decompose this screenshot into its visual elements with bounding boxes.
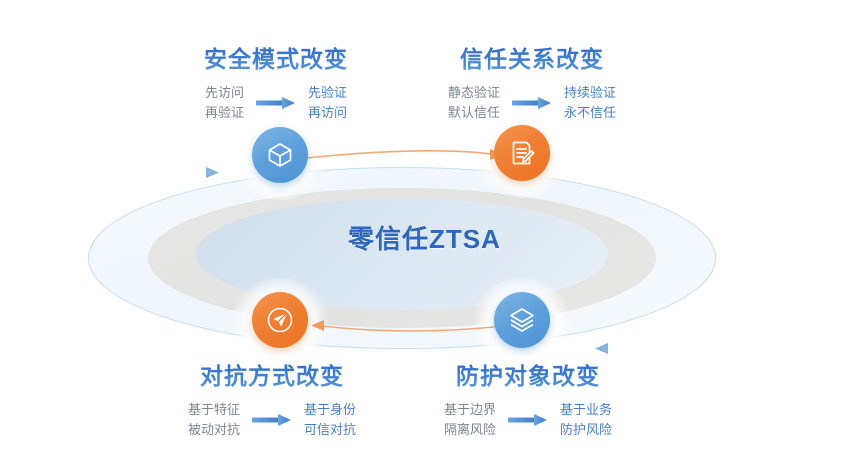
quadrant-before-text: 静态验证 默认信任 bbox=[448, 83, 500, 123]
quadrant-top-left: 安全模式改变 先访问 再验证 先验证 再访问 bbox=[146, 40, 406, 123]
zero-trust-diagram: 零信任ZTSA bbox=[0, 0, 849, 476]
layers-icon bbox=[507, 305, 537, 335]
after-line-2: 可信对抗 bbox=[304, 420, 356, 440]
quadrant-comparison: 先访问 再验证 先验证 再访问 bbox=[146, 83, 406, 123]
quadrant-title: 信任关系改变 bbox=[402, 40, 662, 74]
quadrant-comparison: 基于特征 被动对抗 基于身份 可信对抗 bbox=[142, 400, 402, 440]
before-line-2: 被动对抗 bbox=[188, 420, 240, 440]
transition-arrow-icon bbox=[508, 413, 548, 427]
after-line-2: 防护风险 bbox=[560, 420, 612, 440]
quadrant-before-text: 先访问 再验证 bbox=[205, 83, 244, 123]
quadrant-top-right: 信任关系改变 静态验证 默认信任 持续验证 永不信任 bbox=[402, 40, 662, 123]
node-top-left[interactable] bbox=[252, 127, 308, 183]
outer-orbit-ellipse bbox=[88, 167, 716, 349]
quadrant-comparison: 静态验证 默认信任 持续验证 永不信任 bbox=[402, 83, 662, 123]
quadrant-comparison: 基于边界 隔离风险 基于业务 防护风险 bbox=[398, 400, 658, 440]
quadrant-title: 安全模式改变 bbox=[146, 40, 406, 74]
after-line-2: 再访问 bbox=[308, 103, 347, 123]
before-line-2: 默认信任 bbox=[448, 103, 500, 123]
node-bottom-left[interactable] bbox=[252, 292, 308, 348]
send-icon bbox=[264, 304, 296, 336]
cube-icon bbox=[266, 141, 294, 169]
transition-arrow-icon bbox=[512, 96, 552, 110]
quadrant-after-text: 先验证 再访问 bbox=[308, 83, 347, 123]
transition-arrow-icon bbox=[256, 96, 296, 110]
before-line-1: 静态验证 bbox=[448, 83, 500, 103]
node-bottom-right[interactable] bbox=[494, 292, 550, 348]
before-line-1: 先访问 bbox=[205, 83, 244, 103]
after-line-1: 持续验证 bbox=[564, 83, 616, 103]
quadrant-before-text: 基于特征 被动对抗 bbox=[188, 400, 240, 440]
quadrant-title: 对抗方式改变 bbox=[142, 357, 402, 391]
quadrant-bottom-right: 防护对象改变 基于边界 隔离风险 基于业务 防护风险 bbox=[398, 357, 658, 440]
document-edit-icon bbox=[508, 139, 536, 167]
before-line-2: 隔离风险 bbox=[444, 420, 496, 440]
quadrant-after-text: 持续验证 永不信任 bbox=[564, 83, 616, 123]
node-top-right[interactable] bbox=[494, 125, 550, 181]
quadrant-bottom-left: 对抗方式改变 基于特征 被动对抗 基于身份 可信对抗 bbox=[142, 357, 402, 440]
quadrant-after-text: 基于身份 可信对抗 bbox=[304, 400, 356, 440]
before-line-1: 基于特征 bbox=[188, 400, 240, 420]
orbit-arrowhead-top-left bbox=[206, 167, 219, 178]
after-line-1: 基于身份 bbox=[304, 400, 356, 420]
after-line-2: 永不信任 bbox=[564, 103, 616, 123]
quadrant-before-text: 基于边界 隔离风险 bbox=[444, 400, 496, 440]
after-line-1: 先验证 bbox=[308, 83, 347, 103]
before-line-2: 再验证 bbox=[205, 103, 244, 123]
quadrant-title: 防护对象改变 bbox=[398, 357, 658, 391]
after-line-1: 基于业务 bbox=[560, 400, 612, 420]
before-line-1: 基于边界 bbox=[444, 400, 496, 420]
middle-orbit-ellipse bbox=[148, 188, 656, 328]
center-title: 零信任ZTSA bbox=[0, 219, 849, 256]
quadrant-after-text: 基于业务 防护风险 bbox=[560, 400, 612, 440]
transition-arrow-icon bbox=[252, 413, 292, 427]
orbit-arrowhead-bottom-right bbox=[595, 343, 608, 354]
